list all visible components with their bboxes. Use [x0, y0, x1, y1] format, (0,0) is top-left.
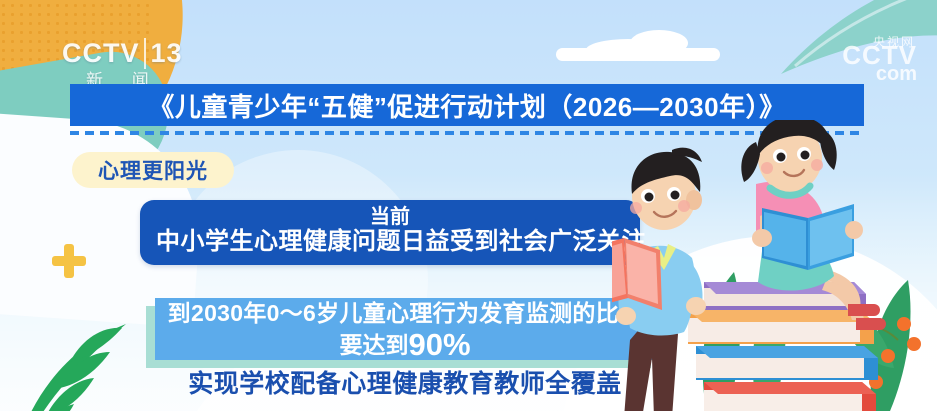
- target-box: 到2030年0～6岁儿童心理行为发育监测的比例 要达到90%: [155, 298, 655, 360]
- callout-line-2: 中小学生心理健康问题日益受到社会广泛关注: [156, 228, 624, 257]
- cctv-logo-text: CCTV: [62, 38, 140, 68]
- green-leaf-icon: [14, 318, 134, 411]
- children-reading-illustration: [612, 120, 937, 411]
- target-value: 90%: [408, 327, 470, 362]
- cloud-icon: [556, 30, 720, 60]
- boy-figure: [612, 148, 706, 411]
- footer-line: 实现学校配备心理健康教育教师全覆盖: [155, 364, 655, 400]
- broadcast-frame: CCTV13 新 闻 央视网 CCTV com 《儿童青少年“五健”促进行动计划…: [0, 0, 937, 411]
- section-label-text: 心理更阳光: [98, 155, 208, 185]
- page-title: 《儿童青少年“五健”促进行动计划（2026—2030年）》: [148, 87, 785, 124]
- cctv-watermark: 央视网 CCTV com: [842, 42, 917, 84]
- callout-line-1: 当前: [156, 206, 624, 228]
- cctv-channel-number: 13: [144, 38, 188, 69]
- callout-box: 当前 中小学生心理健康问题日益受到社会广泛关注: [140, 200, 640, 265]
- section-label-pill: 心理更阳光: [72, 152, 234, 188]
- plus-icon: [52, 244, 86, 278]
- watermark-chinese-label: 央视网: [873, 36, 915, 48]
- target-line-2-prefix: 要达到: [339, 332, 408, 358]
- footer-text: 实现学校配备心理健康教育教师全覆盖: [188, 370, 622, 398]
- target-line-2: 要达到90%: [155, 328, 655, 362]
- cctv-logo: CCTV13: [62, 38, 188, 69]
- target-line-1: 到2030年0～6岁儿童心理行为发育监测的比例: [155, 300, 655, 328]
